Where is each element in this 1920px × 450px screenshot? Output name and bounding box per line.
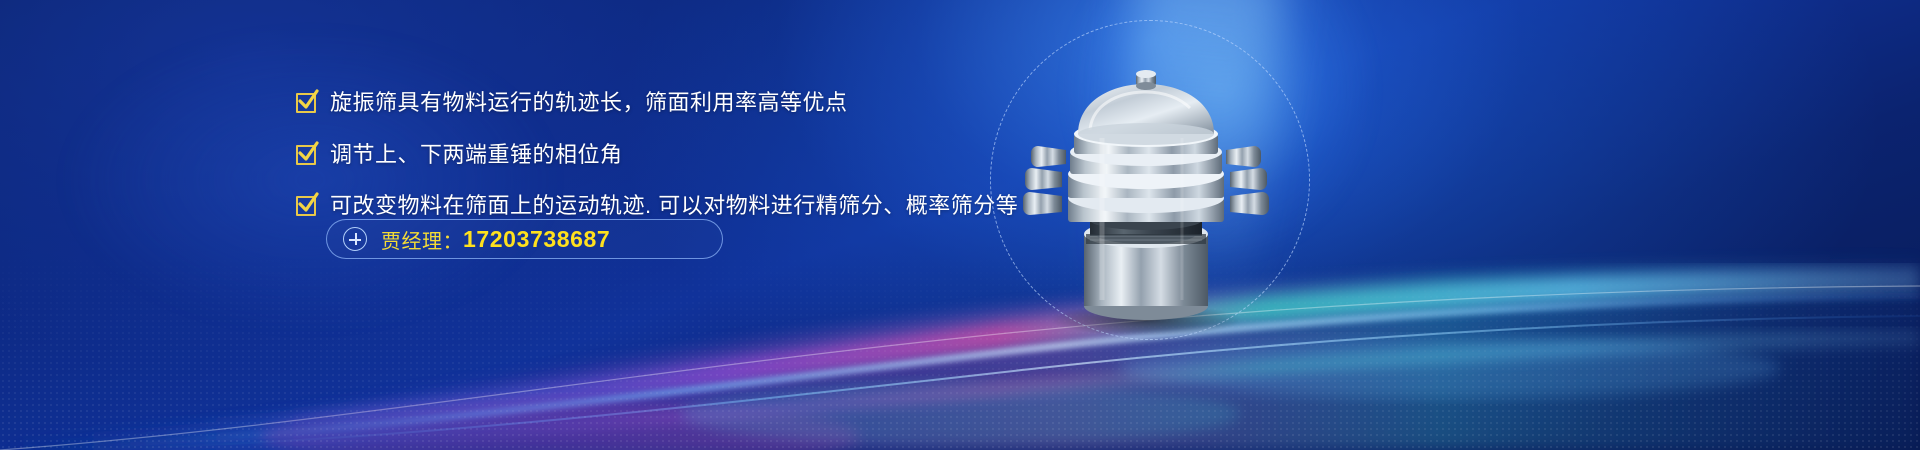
check-box-icon (296, 196, 316, 216)
contact-label: 贾经理： (381, 225, 463, 254)
feature-text: 可改变物料在筛面上的运动轨迹. 可以对物料进行精筛分、概率筛分等 (330, 191, 1018, 221)
feature-text: 调节上、下两端重锤的相位角 (330, 140, 623, 170)
list-item: 旋振筛具有物料运行的轨迹长，筛面利用率高等优点 (296, 88, 1018, 118)
list-item: 可改变物料在筛面上的运动轨迹. 可以对物料进行精筛分、概率筛分等 (296, 191, 1018, 221)
product-image-area (990, 20, 1310, 340)
list-item: 调节上、下两端重锤的相位角 (296, 140, 1018, 170)
rotary-vibrating-sieve-image (950, 38, 1350, 338)
contact-phone-button[interactable]: 贾经理： 17203738687 (326, 219, 723, 259)
promo-banner: 旋振筛具有物料运行的轨迹长，筛面利用率高等优点 调节上、下两端重锤的相位角 (0, 0, 1920, 450)
banner-content: 旋振筛具有物料运行的轨迹长，筛面利用率高等优点 调节上、下两端重锤的相位角 (0, 0, 1000, 450)
plus-circle-icon (343, 227, 367, 251)
feature-text: 旋振筛具有物料运行的轨迹长，筛面利用率高等优点 (330, 88, 848, 118)
check-box-icon (296, 145, 316, 165)
contact-phone-number: 17203738687 (463, 226, 610, 253)
check-box-icon (296, 93, 316, 113)
